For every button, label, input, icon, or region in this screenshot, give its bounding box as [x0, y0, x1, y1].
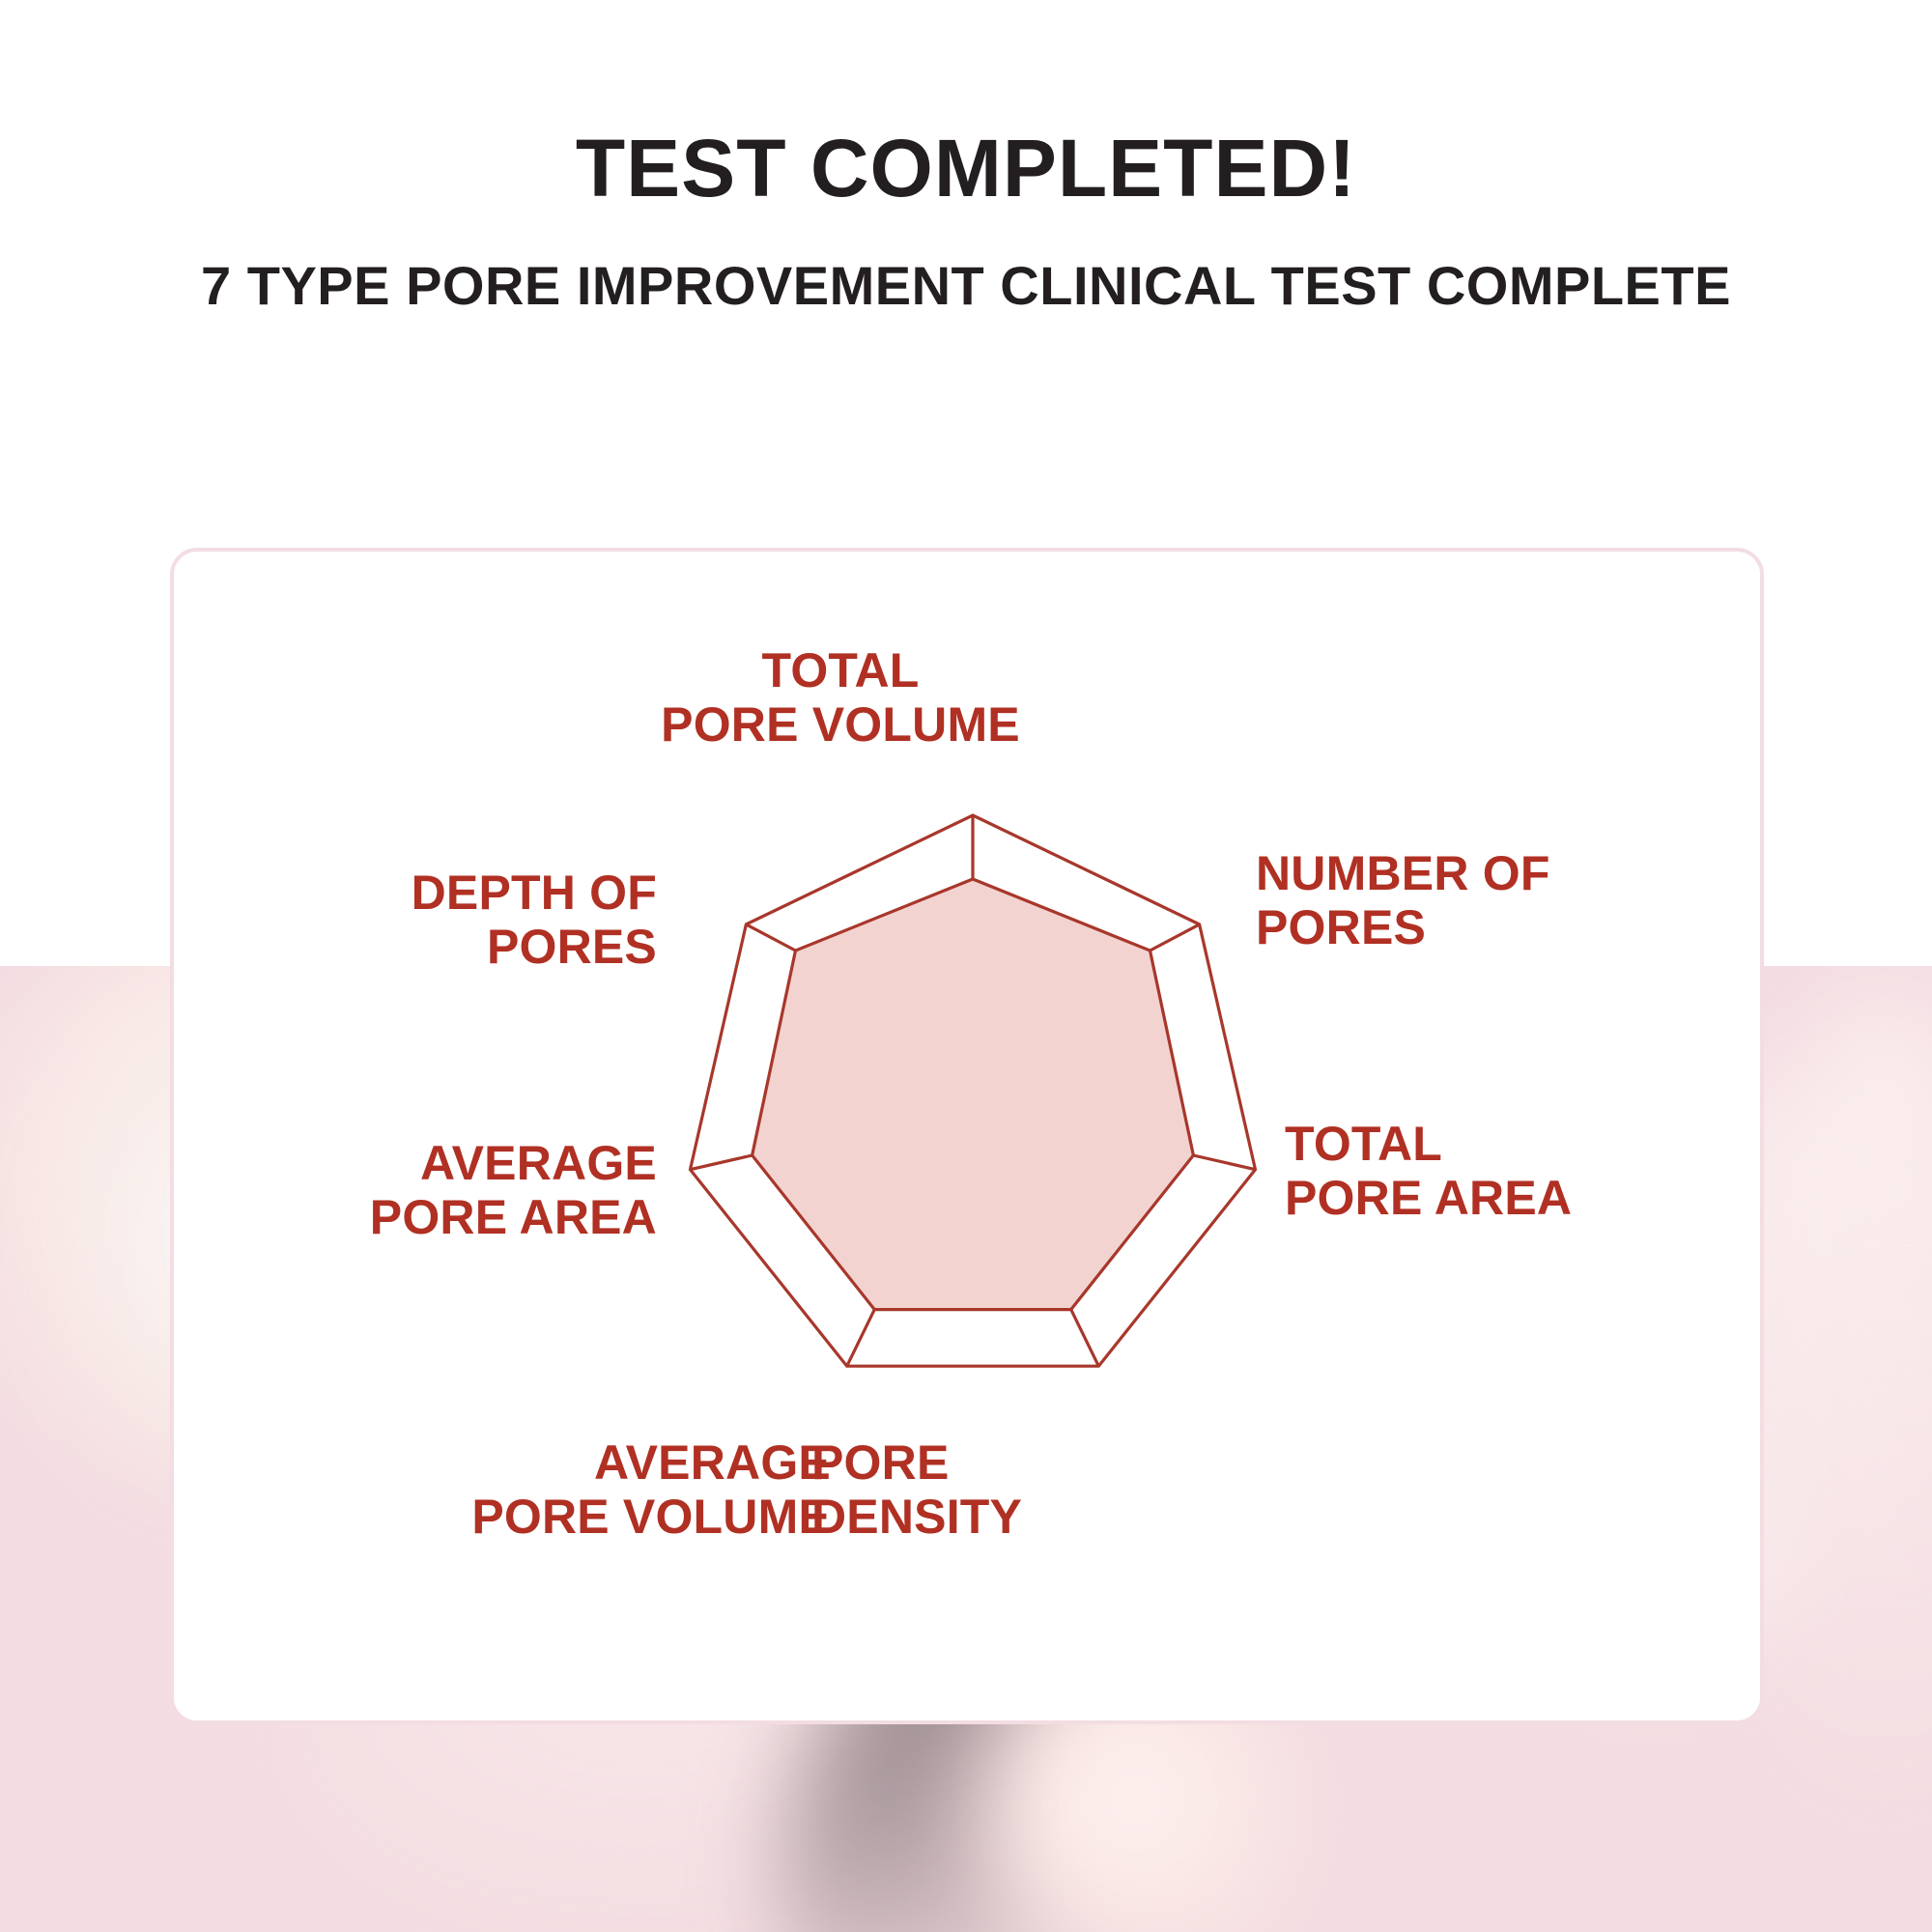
radar-label-depth-of-pores: DEPTH OF PORES — [251, 866, 657, 974]
radar-chart: TOTAL PORE VOLUME NUMBER OF PORES TOTAL … — [174, 552, 1768, 1728]
radar-label-pore-density: PORE DENSITY — [811, 1435, 1227, 1544]
radar-label-total-pore-volume: TOTAL PORE VOLUME — [580, 643, 1101, 752]
radar-data-polygon — [753, 879, 1194, 1310]
radar-label-number-of-pores: NUMBER OF PORES — [1256, 846, 1710, 954]
heading-block: TEST COMPLETED! 7 TYPE PORE IMPROVEMENT … — [0, 128, 1932, 313]
page-subtitle: 7 TYPE PORE IMPROVEMENT CLINICAL TEST CO… — [0, 259, 1932, 313]
page-title: TEST COMPLETED! — [0, 128, 1932, 209]
page-root: TEST COMPLETED! 7 TYPE PORE IMPROVEMENT … — [0, 0, 1932, 1932]
radar-label-average-pore-area: AVERAGE PORE AREA — [193, 1136, 657, 1244]
radar-label-average-pore-volume: AVERAGE PORE VOLUME — [309, 1435, 831, 1544]
chart-card: TOTAL PORE VOLUME NUMBER OF PORES TOTAL … — [170, 548, 1764, 1724]
radar-label-total-pore-area: TOTAL PORE AREA — [1285, 1117, 1739, 1225]
